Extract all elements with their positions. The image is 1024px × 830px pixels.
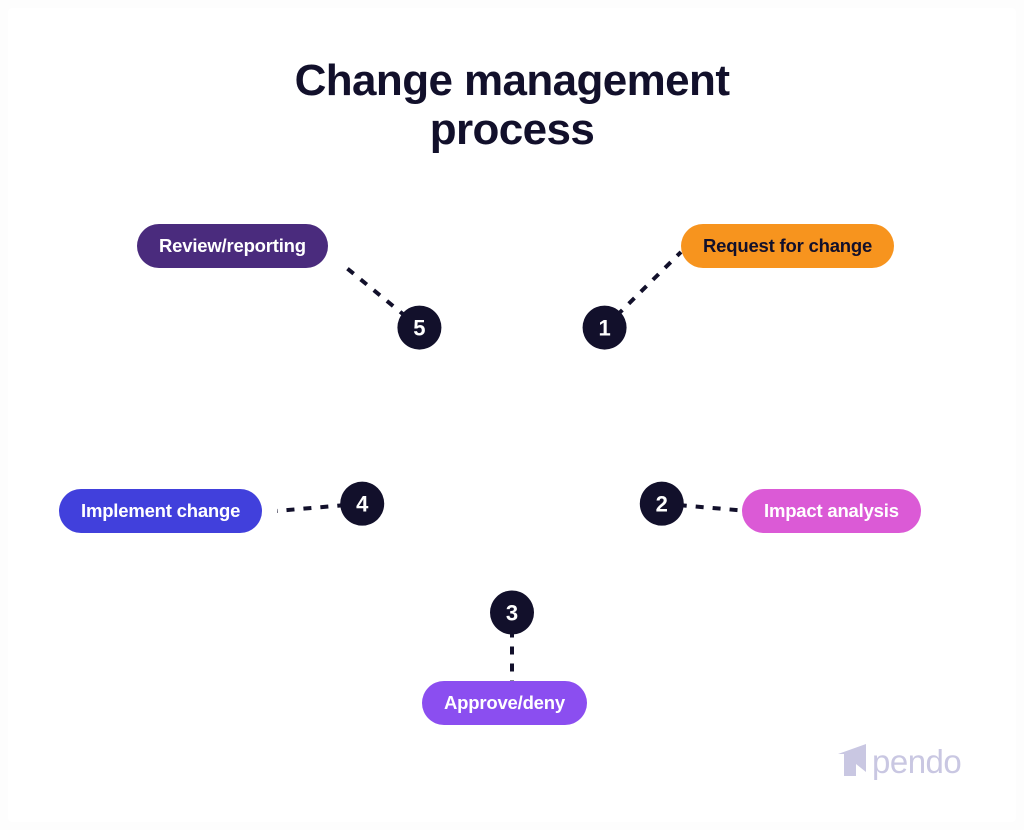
cycle-ring: 12345: [277, 220, 747, 690]
step-badge-number-5: 5: [413, 316, 425, 341]
pendo-arrow-icon: [838, 744, 866, 776]
step-label-text-2: Impact analysis: [764, 500, 899, 522]
step-label-text-1: Request for change: [703, 235, 872, 257]
step-badge-number-2: 2: [656, 492, 668, 517]
page-title-line-2: process: [0, 105, 1024, 154]
step-label-5[interactable]: Review/reporting: [137, 224, 328, 268]
step-label-text-3: Approve/deny: [444, 692, 565, 714]
pendo-logo-svg: pendo: [836, 742, 976, 782]
diagram-canvas: Change management process 12345 Request …: [0, 0, 1024, 830]
ring-segments: [325, 248, 720, 643]
step-badge-number-3: 3: [506, 601, 518, 626]
step-label-1[interactable]: Request for change: [681, 224, 894, 268]
step-label-2[interactable]: Impact analysis: [742, 489, 921, 533]
pendo-logo: pendo: [836, 742, 976, 782]
step-badge-number-4: 4: [356, 492, 369, 517]
page-title: Change management process: [0, 56, 1024, 155]
step-label-text-5: Review/reporting: [159, 235, 306, 257]
step-label-text-4: Implement change: [81, 500, 240, 522]
step-badge-number-1: 1: [598, 316, 610, 341]
step-label-3[interactable]: Approve/deny: [422, 681, 587, 725]
step-badges: 12345: [340, 306, 684, 635]
step-label-4[interactable]: Implement change: [59, 489, 262, 533]
pendo-wordmark: pendo: [872, 743, 961, 780]
page-title-line-1: Change management: [0, 56, 1024, 105]
